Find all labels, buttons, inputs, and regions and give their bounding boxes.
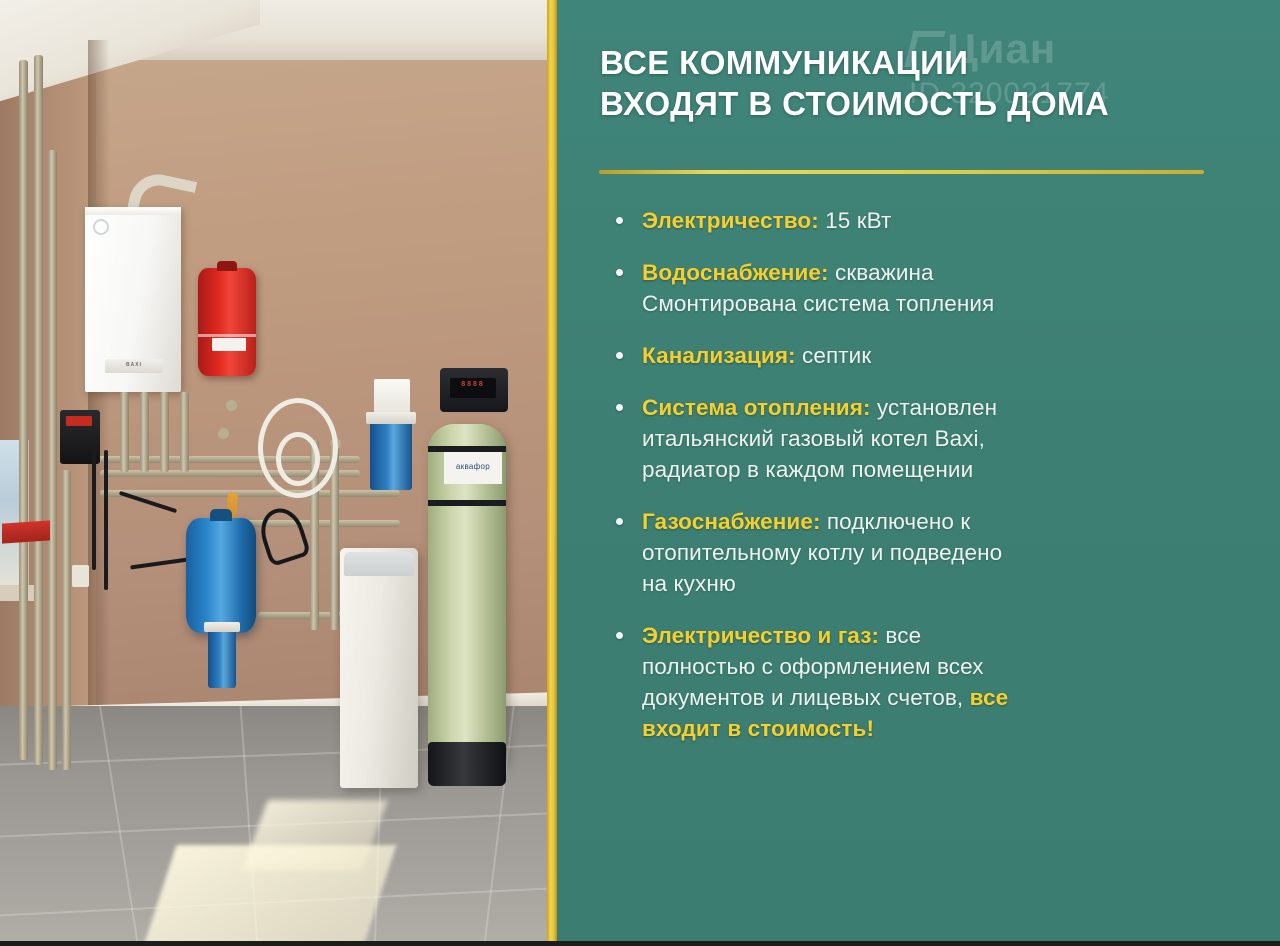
sunlight-patch-secondary: [242, 800, 387, 870]
pipe-vertical: [160, 392, 169, 472]
red-expansion-tank: [198, 268, 256, 376]
filter-head: [204, 622, 240, 632]
water-softener-cabinet: [340, 548, 418, 788]
bullet-value: установлен: [871, 395, 998, 420]
valve-display-value: 8888: [450, 381, 496, 388]
bullet-dot-icon: [616, 632, 623, 639]
title-divider: [599, 170, 1204, 174]
water-filter-housing: [370, 420, 412, 490]
list-item: Водоснабжение: скважина Смонтирована сис…: [597, 257, 1257, 319]
bullet-tail-highlight: все: [970, 685, 1009, 710]
bullet-dot-icon: [616, 352, 623, 359]
wall-socket: [72, 565, 89, 587]
tank-stripe: [428, 500, 506, 506]
info-panel: Циан ID 320021774 ВСЕ КОММУНИКАЦИИ ВХОДЯ…: [557, 0, 1280, 941]
bullet-tail-line2: входит в стоимость!: [642, 716, 874, 741]
valve: [218, 428, 229, 439]
pipe-vertical: [180, 392, 189, 472]
list-item: Канализация: септик: [597, 340, 1257, 371]
gold-accent-stripe: [547, 0, 557, 946]
bullet-key: Газоснабжение:: [642, 509, 821, 534]
boiler-top: [85, 207, 181, 215]
mineral-tank-label: аквафор: [444, 452, 502, 484]
softener-lid: [344, 552, 414, 576]
mineral-tank-brand: аквафор: [444, 462, 502, 471]
mineral-tank-base: [428, 742, 506, 786]
bottom-letterbox: [0, 941, 1280, 946]
bullet-extra-line: полностью с оформлением всех: [642, 654, 984, 679]
pipe-vertical: [140, 392, 149, 472]
boiler-logo-icon: [93, 219, 109, 235]
pipe-vertical: [120, 392, 129, 472]
bullet-dot-icon: [616, 404, 623, 411]
valve-display: 8888: [450, 378, 496, 398]
bullet-key: Электричество и газ:: [642, 623, 879, 648]
list-item: Электричество: 15 кВт: [597, 205, 1257, 236]
title-line-1: ВСЕ КОММУНИКАЦИИ: [600, 42, 1240, 83]
bullet-key: Канализация:: [642, 343, 796, 368]
valve: [226, 400, 237, 411]
pipe-vertical: [19, 60, 28, 760]
bullet-extra-line: Смонтирована система топления: [642, 291, 994, 316]
boiler-room-photo: BAXI: [0, 0, 548, 941]
filter-head: [366, 412, 416, 424]
water-filter-housing: [208, 630, 236, 688]
pipe-vertical: [48, 150, 57, 770]
bullet-dot-icon: [616, 269, 623, 276]
list-item: Газоснабжение: подключено к отопительном…: [597, 506, 1257, 599]
softener-control-valve: 8888: [440, 368, 508, 412]
list-item: Система отопления: установлен итальянски…: [597, 392, 1257, 485]
hose-coil-inner: [276, 432, 320, 486]
bullet-value: подключено к: [821, 509, 971, 534]
bullet-key: Электричество:: [642, 208, 819, 233]
screenshot-root: BAXI: [0, 0, 1280, 946]
list-item: Электричество и газ: все полностью с офо…: [597, 620, 1257, 744]
bullet-value: скважина: [829, 260, 934, 285]
bullet-tail-before: документов и лицевых счетов,: [642, 685, 970, 710]
boiler-brand-label: BAXI: [105, 362, 163, 368]
bullet-dot-icon: [616, 217, 623, 224]
bullet-extra-line: отопительному котлу и подведено: [642, 540, 1002, 565]
page-title: ВСЕ КОММУНИКАЦИИ ВХОДЯТ В СТОИМОСТЬ ДОМА: [600, 42, 1240, 124]
communications-list: Электричество: 15 кВт Водоснабжение: скв…: [597, 205, 1257, 765]
bullet-dot-icon: [616, 518, 623, 525]
bullet-extra-line: радиатор в каждом помещении: [642, 457, 973, 482]
boiler-control-panel: BAXI: [105, 359, 163, 373]
pipe-vertical: [34, 55, 43, 765]
bullet-extra-line: итальянский газовый котел Baxi,: [642, 426, 985, 451]
warning-sticker: [2, 520, 50, 543]
gas-boiler: BAXI: [85, 207, 181, 392]
pipe-horizontal: [100, 490, 400, 497]
electrical-wire: [104, 450, 108, 590]
controller-indicator: [66, 416, 92, 426]
bullet-key: Система отопления:: [642, 395, 871, 420]
electrical-wire: [92, 450, 96, 570]
title-line-2: ВХОДЯТ В СТОИМОСТЬ ДОМА: [600, 83, 1240, 124]
blue-pressure-tank: [186, 518, 256, 633]
bullet-key: Водоснабжение:: [642, 260, 829, 285]
bullet-value: септик: [796, 343, 872, 368]
tank-band: [198, 334, 256, 337]
pipe-vertical: [62, 470, 71, 770]
bullet-extra-line: на кухню: [642, 571, 736, 596]
tank-label: [212, 338, 246, 351]
bullet-value: 15 кВт: [819, 208, 892, 233]
bullet-value: все: [879, 623, 921, 648]
